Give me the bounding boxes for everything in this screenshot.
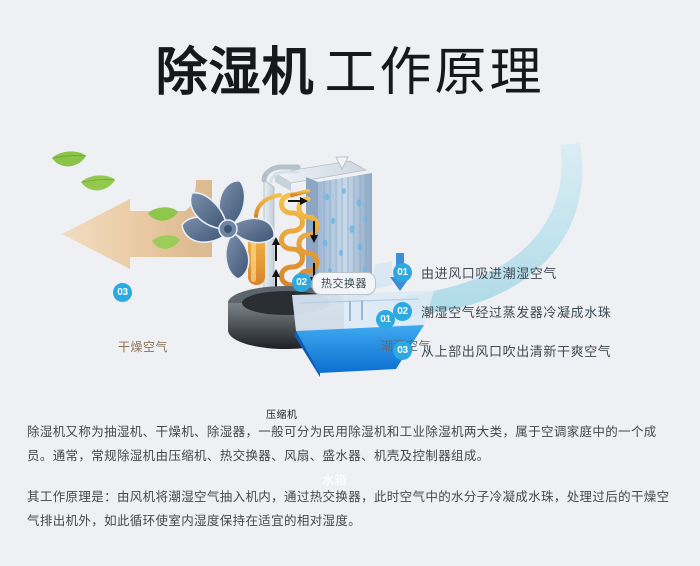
legend-number-badge: 01	[393, 263, 412, 282]
legend-number-badge: 02	[393, 302, 412, 321]
diagram-badge-02: 02	[292, 273, 311, 292]
page-title: 除湿机工作原理	[0, 30, 700, 105]
description-block: 除湿机又称为抽湿机、干燥机、除湿器，一般可分为民用除湿机和工业除湿机两大类，属于…	[27, 420, 677, 533]
page-title-primary: 除湿机	[155, 43, 314, 103]
dry-air-label: 干燥空气	[118, 338, 168, 355]
legend-item-label: 由进风口吸进潮湿空气	[421, 263, 557, 282]
compressor-label: 压缩机	[266, 406, 298, 421]
legend-number-badge: 03	[393, 341, 412, 360]
legend-item-label: 从上部出风口吹出清新干爽空气	[421, 341, 611, 360]
legend-item-03: 03 从上部出风口吹出清新干爽空气	[393, 333, 693, 367]
dehumidifier-infographic-page: { "page": { "background_color": "#eff0f4…	[0, 0, 700, 566]
legend-list: 01 由进风口吸进潮湿空气 02 潮湿空气经过蒸发器冷凝成水珠 03 从上部出风…	[393, 255, 693, 372]
description-paragraph-1: 除湿机又称为抽湿机、干燥机、除湿器，一般可分为民用除湿机和工业除湿机两大类，属于…	[27, 420, 677, 468]
description-paragraph-2: 其工作原理是：由风机将潮湿空气抽入机内，通过热交换器，此时空气中的水分子冷凝成水…	[27, 485, 677, 533]
heat-exchanger-callout: 热交换器	[312, 272, 376, 295]
page-title-secondary: 工作原理	[325, 43, 545, 103]
diagram-badge-03: 03	[113, 283, 132, 302]
legend-item-02: 02 潮湿空气经过蒸发器冷凝成水珠	[393, 294, 693, 328]
legend-item-01: 01 由进风口吸进潮湿空气	[393, 255, 693, 289]
legend-item-label: 潮湿空气经过蒸发器冷凝成水珠	[421, 302, 611, 321]
